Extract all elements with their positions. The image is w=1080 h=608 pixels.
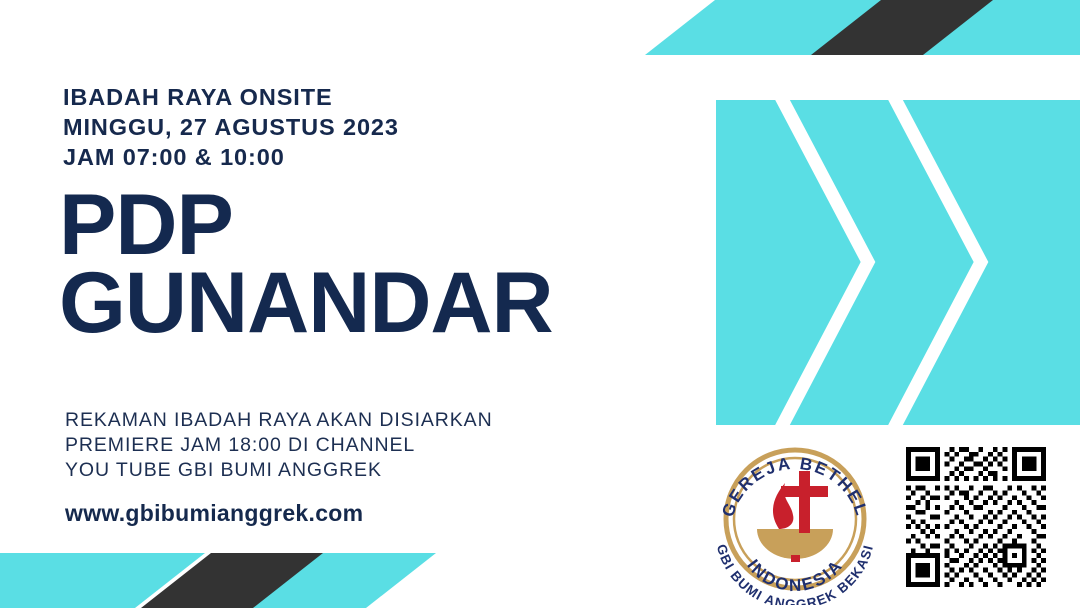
logo-cross-vertical [799, 471, 810, 533]
top-dark-parallelogram [811, 0, 1048, 55]
speaker-title: PDP [59, 186, 553, 264]
broadcast-info: REKAMAN IBADAH RAYA AKAN DISIARKAN PREMI… [65, 408, 493, 483]
chevron-block [716, 100, 1080, 425]
website-url[interactable]: www.gbibumianggrek.com [65, 500, 363, 527]
service-type-line: IBADAH RAYA ONSITE [63, 82, 399, 112]
service-time-line: JAM 07:00 & 10:00 [63, 142, 399, 172]
qr-code[interactable] [906, 447, 1046, 587]
service-date-line: MINGGU, 27 AGUSTUS 2023 [63, 112, 399, 142]
announcement-text-column: IBADAH RAYA ONSITE MINGGU, 27 AGUSTUS 20… [63, 0, 663, 608]
speaker-headline: PDP GUNANDAR [59, 186, 553, 342]
speaker-name: GUNANDAR [59, 264, 553, 342]
gbi-church-logo: GEREJA BETHEL INDONESIA GBI BUMI ANGGREK… [705, 437, 883, 605]
poster-canvas: IBADAH RAYA ONSITE MINGGU, 27 AGUSTUS 20… [0, 0, 1080, 608]
broadcast-line-1: REKAMAN IBADAH RAYA AKAN DISIARKAN [65, 408, 493, 433]
broadcast-line-2: PREMIERE JAM 18:00 DI CHANNEL [65, 433, 493, 458]
broadcast-line-3: YOU TUBE GBI BUMI ANGGREK [65, 458, 493, 483]
logo-cross-horizontal [781, 486, 828, 497]
logo-bowl-base [791, 555, 800, 562]
top-cyan-parallelogram-left [645, 0, 976, 55]
top-cyan-parallelogram-right [923, 0, 1080, 55]
service-details: IBADAH RAYA ONSITE MINGGU, 27 AGUSTUS 20… [63, 82, 399, 172]
